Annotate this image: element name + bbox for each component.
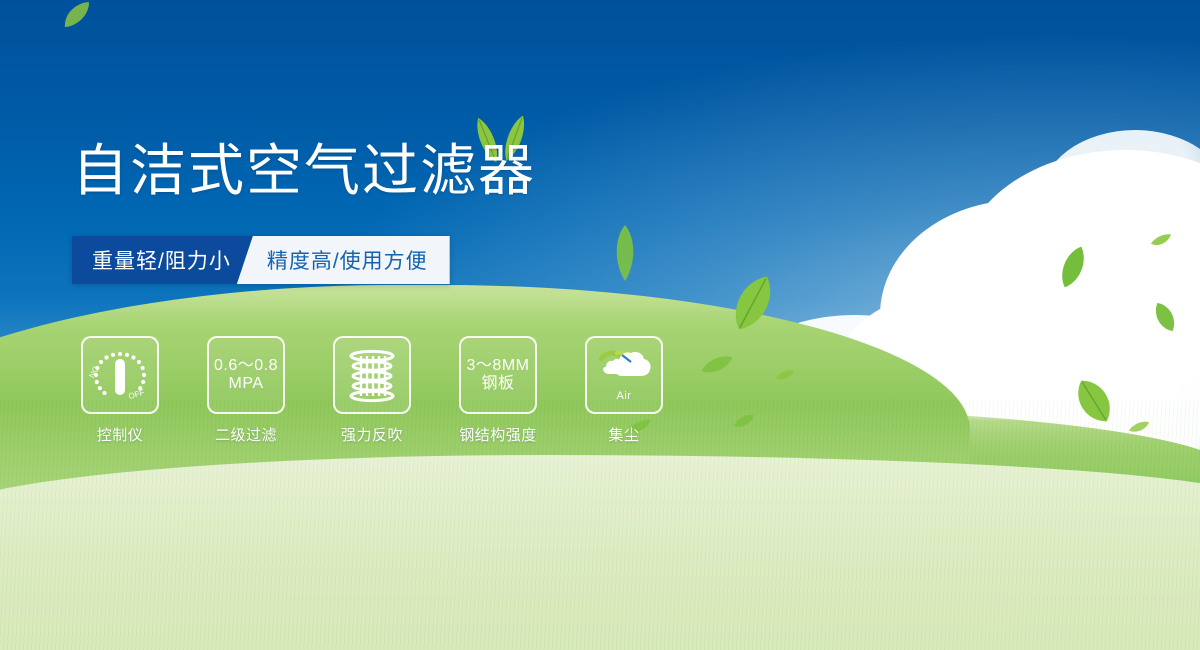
feature-item[interactable]: NO OFF 控制仪 — [72, 336, 168, 445]
feature-label: 钢结构强度 — [459, 424, 537, 445]
feature-item[interactable]: Air 集尘 — [576, 336, 672, 445]
gauge-off-label: OFF — [128, 388, 146, 401]
feature-item[interactable]: 强力反吹 — [324, 336, 420, 445]
feature-icon-box: 3～8MM 钢板 — [459, 336, 537, 414]
feature-icon-box: NO OFF — [81, 336, 159, 414]
air-cloud-icon — [595, 349, 653, 389]
gauge-icon: NO OFF — [89, 345, 151, 405]
feature-label: 强力反吹 — [341, 424, 403, 445]
banner-content: 自洁式空气过滤器 重量轻/阻力小 精度高/使用方便 — [0, 0, 1200, 650]
feature-icon-text: 0.6～0.8 — [214, 357, 278, 375]
feature-list: NO OFF 控制仪 0.6～0.8 MPA 二级过滤 — [72, 336, 672, 445]
feature-icon-text: 3～8MM — [467, 357, 530, 375]
feature-icon-text-2: MPA — [229, 375, 264, 393]
feature-icon-box: Air — [585, 336, 663, 414]
subtitle-bar: 重量轻/阻力小 精度高/使用方便 — [72, 236, 450, 284]
feature-icon-box: 0.6～0.8 MPA — [207, 336, 285, 414]
filter-coil-icon — [344, 346, 400, 404]
feature-icon-box — [333, 336, 411, 414]
subtitle-right: 精度高/使用方便 — [237, 236, 450, 284]
feature-icon-text-2: 钢板 — [481, 375, 514, 393]
page-title: 自洁式空气过滤器 — [72, 143, 536, 199]
feature-label: 二级过滤 — [215, 424, 277, 445]
hero-banner: 自洁式空气过滤器 重量轻/阻力小 精度高/使用方便 — [0, 0, 1200, 650]
feature-item[interactable]: 0.6～0.8 MPA 二级过滤 — [198, 336, 294, 445]
feature-label: 控制仪 — [97, 424, 144, 445]
feature-icon-text-2: Air — [617, 390, 632, 403]
feature-label: 集尘 — [608, 424, 639, 445]
subtitle-left: 重量轻/阻力小 — [72, 236, 253, 284]
feature-item[interactable]: 3～8MM 钢板 钢结构强度 — [450, 336, 546, 445]
